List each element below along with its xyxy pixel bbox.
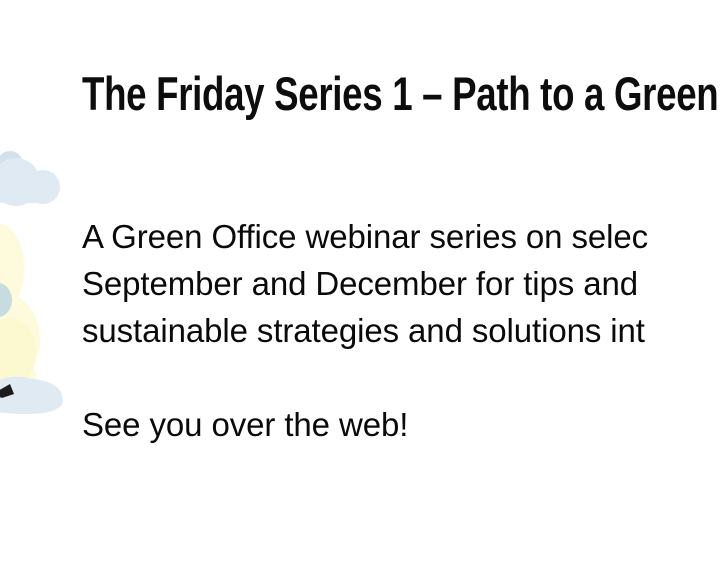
cloud-top-icon [0,151,60,206]
body-line-2: September and December for tips and [82,260,726,307]
sun-glow-icon [0,224,40,400]
body-line-1: A Green Office webinar series on selec [82,213,726,260]
bird-detail-icon [0,384,14,399]
slide-canvas: The Friday Series 1 – Path to a Green A … [0,0,726,564]
body-text-block: A Green Office webinar series on selec S… [82,213,726,448]
closing-line: See you over the web! [82,401,726,448]
accent-teal-shape [0,283,12,317]
body-blank-line [82,354,726,401]
cloud-bottom-icon [0,377,63,414]
page-title: The Friday Series 1 – Path to a Green [82,68,726,121]
body-line-3: sustainable strategies and solutions int [82,307,726,354]
